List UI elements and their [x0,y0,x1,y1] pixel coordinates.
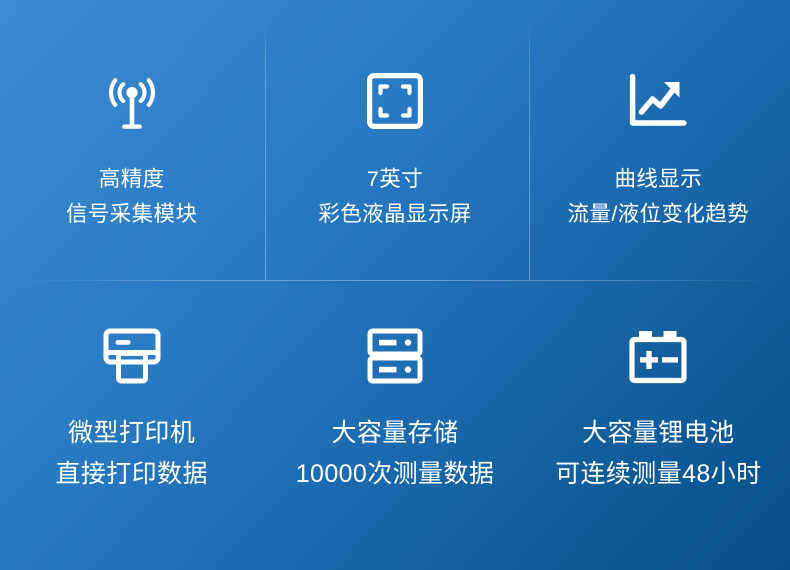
storage-server-icon [360,321,430,391]
printer-icon [97,321,167,391]
signal-antenna-icon [97,66,167,136]
feature-subtitle: 彩色液晶显示屏 [318,197,471,232]
feature-title: 7英寸 [318,162,471,197]
feature-title: 大容量锂电池 [555,413,761,454]
feature-cell-large-storage: 大容量存储 10000次测量数据 [263,281,526,570]
feature-title: 大容量存储 [296,413,495,454]
display-screen-icon [360,66,430,136]
feature-label-group: 大容量存储 10000次测量数据 [296,413,495,495]
feature-cell-micro-printer: 微型打印机 直接打印数据 [0,281,263,570]
feature-highlights-panel: 高精度 信号采集模块 7英寸 彩色液晶显示屏 [0,0,790,570]
feature-title: 曲线显示 [568,162,750,197]
feature-title: 微型打印机 [55,413,207,454]
feature-label-group: 曲线显示 流量/液位变化趋势 [568,162,750,232]
feature-subtitle: 可连续测量48小时 [555,454,761,495]
feature-cell-trend-curve: 曲线显示 流量/液位变化趋势 [527,0,790,281]
feature-subtitle: 信号采集模块 [66,197,197,232]
feature-label-group: 微型打印机 直接打印数据 [55,413,207,495]
feature-cell-signal-acquisition: 高精度 信号采集模块 [0,0,263,281]
feature-subtitle: 直接打印数据 [55,454,207,495]
trend-chart-icon [623,66,693,136]
feature-subtitle: 流量/液位变化趋势 [568,197,750,232]
feature-cell-large-battery: 大容量锂电池 可连续测量48小时 [527,281,790,570]
feature-label-group: 7英寸 彩色液晶显示屏 [318,162,471,232]
feature-label-group: 高精度 信号采集模块 [66,162,197,232]
feature-label-group: 大容量锂电池 可连续测量48小时 [555,413,761,495]
feature-cell-display-screen: 7英寸 彩色液晶显示屏 [263,0,526,281]
feature-title: 高精度 [66,162,197,197]
feature-subtitle: 10000次测量数据 [296,454,495,495]
feature-grid: 高精度 信号采集模块 7英寸 彩色液晶显示屏 [0,0,790,570]
battery-icon [623,321,693,391]
